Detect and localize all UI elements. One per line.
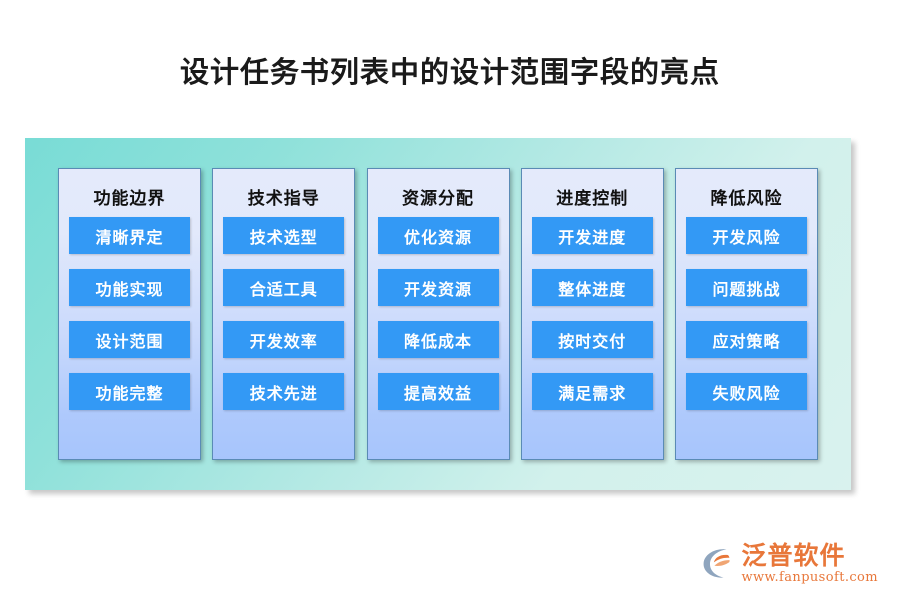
diagram-column-technical-guidance[interactable]: 技术指导 技术选型 合适工具 开发效率 技术先进 [212, 168, 355, 460]
cell-item[interactable]: 按时交付 [532, 321, 653, 358]
cell-item[interactable]: 开发风险 [686, 217, 807, 254]
column-cell-stack: 技术选型 合适工具 开发效率 技术先进 [213, 217, 354, 430]
cell-item[interactable]: 设计范围 [69, 321, 190, 358]
column-cell-stack: 开发风险 问题挑战 应对策略 失败风险 [676, 217, 817, 430]
cell-item[interactable]: 功能完整 [69, 373, 190, 410]
cell-item[interactable]: 开发效率 [223, 321, 344, 358]
cell-item[interactable]: 功能实现 [69, 269, 190, 306]
cell-item[interactable]: 整体进度 [532, 269, 653, 306]
brand-logo[interactable]: 泛普软件 www.fanpusoft.com [700, 542, 878, 584]
page-title: 设计任务书列表中的设计范围字段的亮点 [0, 52, 900, 92]
brand-url: www.fanpusoft.com [741, 571, 878, 584]
diagram-column-progress-control[interactable]: 进度控制 开发进度 整体进度 按时交付 满足需求 [521, 168, 664, 460]
cell-item[interactable]: 开发资源 [378, 269, 499, 306]
diagram-panel: 功能边界 清晰界定 功能实现 设计范围 功能完整 技术指导 技术选型 合适工具 … [25, 138, 851, 490]
column-cell-stack: 开发进度 整体进度 按时交付 满足需求 [522, 217, 663, 430]
cell-item[interactable]: 合适工具 [223, 269, 344, 306]
cell-item[interactable]: 优化资源 [378, 217, 499, 254]
cell-item[interactable]: 技术选型 [223, 217, 344, 254]
cell-item[interactable]: 技术先进 [223, 373, 344, 410]
diagram-column-resource-allocation[interactable]: 资源分配 优化资源 开发资源 降低成本 提高效益 [367, 168, 510, 460]
column-header: 进度控制 [556, 181, 628, 217]
cell-item[interactable]: 清晰界定 [69, 217, 190, 254]
cell-item[interactable]: 提高效益 [378, 373, 499, 410]
diagram-column-functional-boundary[interactable]: 功能边界 清晰界定 功能实现 设计范围 功能完整 [58, 168, 201, 460]
column-header: 技术指导 [248, 181, 320, 217]
column-header: 功能边界 [94, 181, 166, 217]
column-cell-stack: 清晰界定 功能实现 设计范围 功能完整 [59, 217, 200, 430]
brand-name: 泛普软件 [741, 542, 845, 569]
diagram-column-risk-reduction[interactable]: 降低风险 开发风险 问题挑战 应对策略 失败风险 [675, 168, 818, 460]
cell-item[interactable]: 问题挑战 [686, 269, 807, 306]
fanpu-crescent-icon [700, 546, 734, 580]
column-header: 降低风险 [711, 181, 783, 217]
cell-item[interactable]: 降低成本 [378, 321, 499, 358]
column-header: 资源分配 [402, 181, 474, 217]
cell-item[interactable]: 满足需求 [532, 373, 653, 410]
cell-item[interactable]: 应对策略 [686, 321, 807, 358]
cell-item[interactable]: 开发进度 [532, 217, 653, 254]
brand-text-group: 泛普软件 www.fanpusoft.com [741, 542, 878, 584]
column-cell-stack: 优化资源 开发资源 降低成本 提高效益 [368, 217, 509, 430]
cell-item[interactable]: 失败风险 [686, 373, 807, 410]
